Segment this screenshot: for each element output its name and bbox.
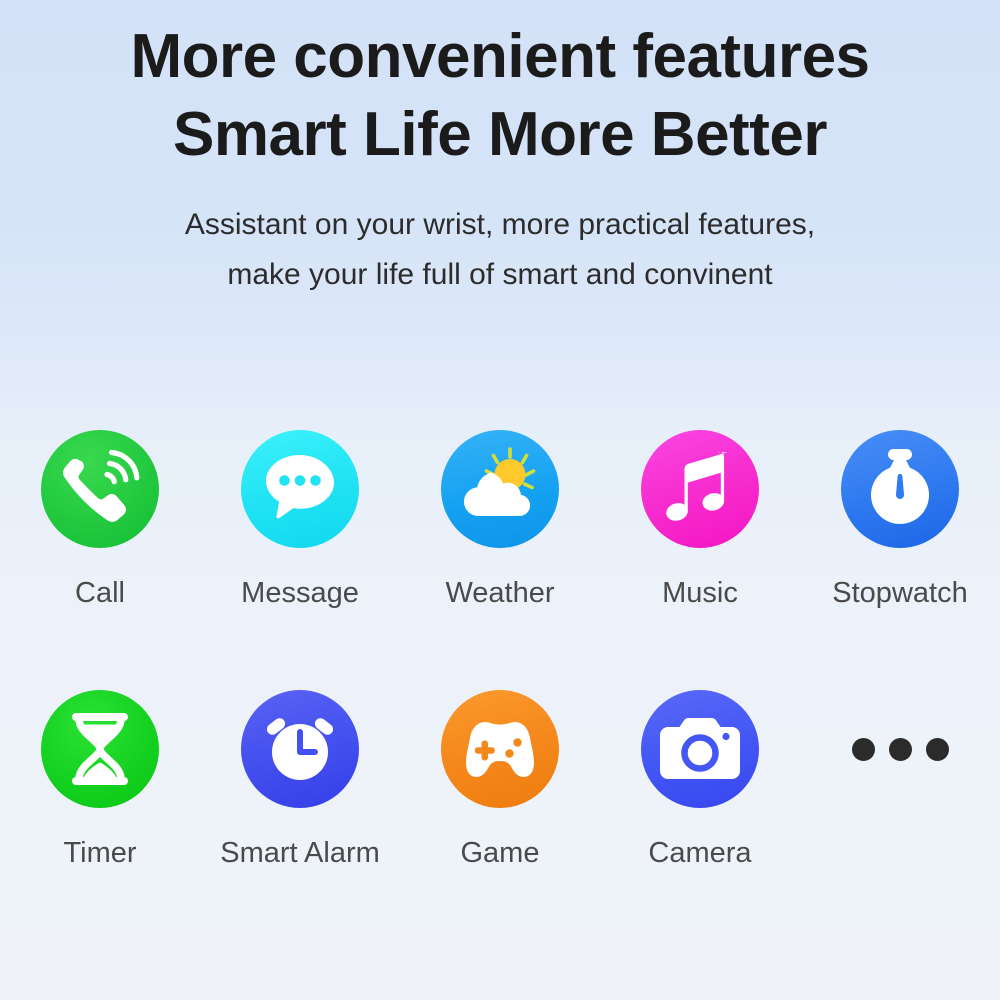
feature-item-call[interactable]: Call — [0, 430, 200, 610]
camera-icon[interactable] — [641, 690, 759, 808]
page-subtitle: Assistant on your wrist, more practical … — [90, 200, 910, 300]
feature-item-smart-alarm[interactable]: Smart Alarm — [200, 690, 400, 870]
chat-bubble-glyph — [241, 430, 359, 548]
hourglass-glyph — [41, 690, 159, 808]
feature-label: Music — [662, 576, 738, 610]
feature-item-weather[interactable]: Weather — [400, 430, 600, 610]
alarm-clock-glyph — [241, 690, 359, 808]
headline-line-1: More convenient features — [130, 22, 869, 91]
hourglass-icon[interactable] — [41, 690, 159, 808]
feature-item-timer[interactable]: Timer — [0, 690, 200, 870]
feature-item-more[interactable] — [800, 690, 1000, 836]
phone-call-icon[interactable] — [41, 430, 159, 548]
feature-label: Message — [241, 576, 359, 610]
feature-label: Call — [75, 576, 125, 610]
chat-bubble-icon[interactable] — [241, 430, 359, 548]
feature-item-camera[interactable]: Camera — [600, 690, 800, 870]
more-dots-icon[interactable] — [841, 690, 959, 808]
subtitle-line-2: make your life full of smart and convine… — [90, 250, 910, 300]
dot-1 — [852, 738, 875, 761]
gamepad-glyph — [441, 690, 559, 808]
alarm-clock-icon[interactable] — [241, 690, 359, 808]
feature-label: Timer — [63, 836, 136, 870]
header: More convenient features Smart Life More… — [0, 0, 1000, 300]
feature-label: Stopwatch — [832, 576, 967, 610]
subtitle-line-1: Assistant on your wrist, more practical … — [90, 200, 910, 250]
feature-item-message[interactable]: Message — [200, 430, 400, 610]
camera-glyph — [641, 690, 759, 808]
sun-cloud-glyph — [441, 430, 559, 548]
sun-cloud-icon[interactable] — [441, 430, 559, 548]
music-note-glyph — [641, 430, 759, 548]
feature-label: Smart Alarm — [220, 836, 380, 870]
feature-item-game[interactable]: Game — [400, 690, 600, 870]
stopwatch-icon[interactable] — [841, 430, 959, 548]
feature-label: Game — [461, 836, 540, 870]
feature-row-1: Call Message — [0, 430, 1000, 690]
headline-line-2: Smart Life More Better — [30, 96, 970, 174]
feature-label: Weather — [445, 576, 554, 610]
feature-row-2: Timer Smart Alarm — [0, 690, 1000, 950]
promo-page: More convenient features Smart Life More… — [0, 0, 1000, 1000]
dot-3 — [926, 738, 949, 761]
feature-item-music[interactable]: Music — [600, 430, 800, 610]
feature-label: Camera — [648, 836, 751, 870]
dot-2 — [889, 738, 912, 761]
feature-item-stopwatch[interactable]: Stopwatch — [800, 430, 1000, 610]
gamepad-icon[interactable] — [441, 690, 559, 808]
phone-call-glyph — [41, 430, 159, 548]
feature-grid: Call Message — [0, 430, 1000, 950]
stopwatch-glyph — [841, 430, 959, 548]
music-note-icon[interactable] — [641, 430, 759, 548]
page-title: More convenient features Smart Life More… — [30, 18, 970, 174]
